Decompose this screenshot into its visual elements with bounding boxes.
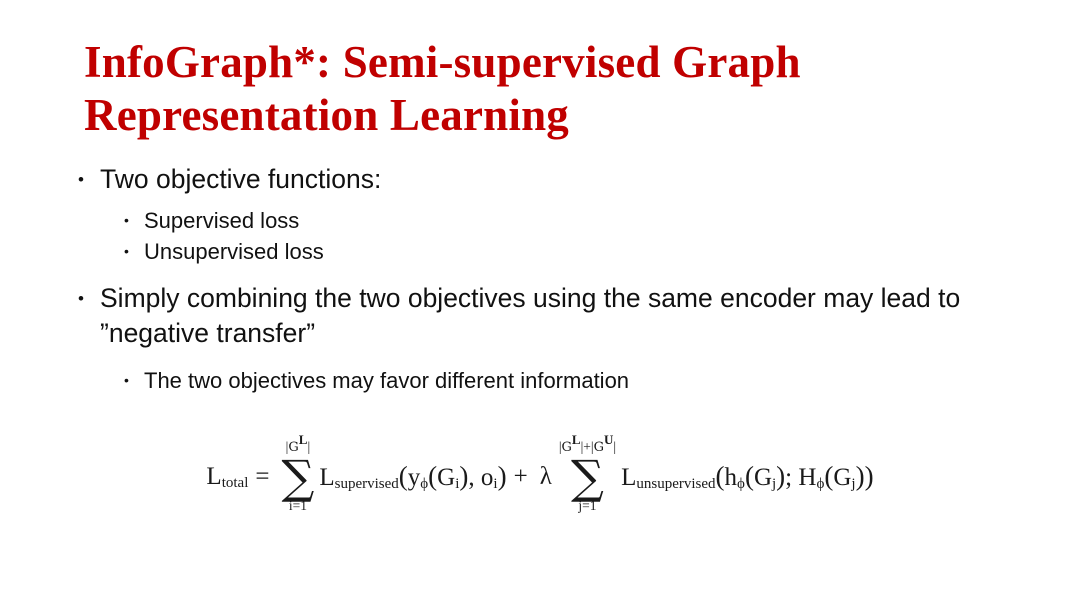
bullet-dot-icon: •	[124, 205, 144, 227]
supervised-loss-symbol: L	[319, 464, 334, 491]
argument-separator: ;	[785, 464, 792, 491]
sum-lower-limit: i=1	[289, 499, 307, 513]
lambda-symbol: λ	[540, 463, 552, 491]
phi-subscript: ϕ	[737, 476, 745, 492]
bullet-text: Supervised loss	[144, 205, 998, 236]
graph-variable: G	[754, 464, 772, 491]
unlabeled-superscript: U	[604, 432, 613, 447]
graph-index: i	[455, 476, 459, 492]
phi-subscript-2: ϕ	[816, 476, 824, 492]
bullet-dot-icon: •	[124, 236, 144, 258]
lhs-subscript: total	[222, 475, 249, 491]
graph-variable-2: G	[833, 464, 851, 491]
bullet-level1-negative-transfer: • Simply combining the two objectives us…	[78, 281, 998, 351]
spacer	[78, 353, 998, 365]
unsupervised-loss-symbol: L	[621, 464, 636, 491]
bullet-text: The two objectives may favor different i…	[144, 365, 998, 396]
sigma-icon: ∑	[571, 456, 604, 498]
close-paren-inner-2: )	[856, 461, 865, 491]
bullet-text: Two objective functions:	[100, 162, 998, 197]
open-paren: (	[399, 461, 408, 491]
h-function: h	[725, 464, 738, 491]
open-paren: (	[716, 461, 725, 491]
graph-index: j	[772, 476, 776, 492]
labeled-superscript: L	[299, 432, 308, 447]
graph-variable: G	[437, 464, 455, 491]
equals-sign: =	[255, 463, 269, 491]
graph-index-2: j	[851, 476, 855, 492]
summation-unsupervised: |GL|+|GU| ∑ j=1	[559, 440, 616, 513]
close-paren-inner: )	[776, 461, 785, 491]
plus-sign: +	[514, 463, 528, 491]
bullet-level2-supervised-loss: • Supervised loss	[124, 205, 998, 236]
open-paren-inner: (	[428, 461, 437, 491]
sigma-icon: ∑	[281, 456, 314, 498]
unsupervised-subscript: unsupervised	[636, 476, 715, 492]
open-paren-inner-2: (	[824, 461, 833, 491]
close-paren: )	[498, 461, 507, 491]
slide-canvas: InfoGraph*: Semi-supervised Graph Repres…	[0, 0, 1080, 607]
lhs-symbol: L	[206, 463, 221, 490]
bullet-text: Unsupervised loss	[144, 236, 998, 267]
spacer	[78, 267, 998, 281]
summation-supervised: |GL| ∑ i=1	[281, 440, 314, 513]
bullet-level1-objectives: • Two objective functions:	[78, 162, 998, 197]
bullet-level2-different-information: • The two objectives may favor different…	[124, 365, 998, 396]
labeled-superscript: L	[572, 432, 581, 447]
y-function: y	[408, 464, 421, 491]
output-index: i	[493, 476, 497, 492]
lhs-loss-symbol: Ltotal	[206, 463, 248, 491]
supervised-loss-term: Lsupervised(yϕ(Gi), oi)	[319, 461, 506, 492]
total-loss-equation: Ltotal = |GL| ∑ i=1 Lsupervised(yϕ(Gi), …	[0, 440, 1080, 513]
bullet-dot-icon: •	[124, 365, 144, 387]
bar-right-2: |	[613, 439, 616, 454]
supervised-subscript: supervised	[335, 476, 399, 492]
slide-body: • Two objective functions: • Supervised …	[78, 162, 998, 396]
slide-title: InfoGraph*: Semi-supervised Graph Repres…	[84, 36, 964, 142]
output-variable: o	[481, 464, 494, 491]
bullet-dot-icon: •	[78, 281, 100, 307]
phi-subscript: ϕ	[420, 476, 428, 492]
equation-row: Ltotal = |GL| ∑ i=1 Lsupervised(yϕ(Gi), …	[206, 440, 873, 513]
bullet-dot-icon: •	[78, 162, 100, 188]
unsupervised-loss-term: Lunsupervised(hϕ(Gj); Hϕ(Gj))	[621, 461, 873, 492]
H-function: H	[798, 464, 816, 491]
close-paren: )	[865, 461, 874, 491]
bullet-text: Simply combining the two objectives usin…	[100, 281, 998, 351]
sum-lower-limit: j=1	[578, 499, 596, 513]
open-paren-inner: (	[745, 461, 754, 491]
argument-separator: ,	[468, 464, 474, 491]
bullet-level2-unsupervised-loss: • Unsupervised loss	[124, 236, 998, 267]
